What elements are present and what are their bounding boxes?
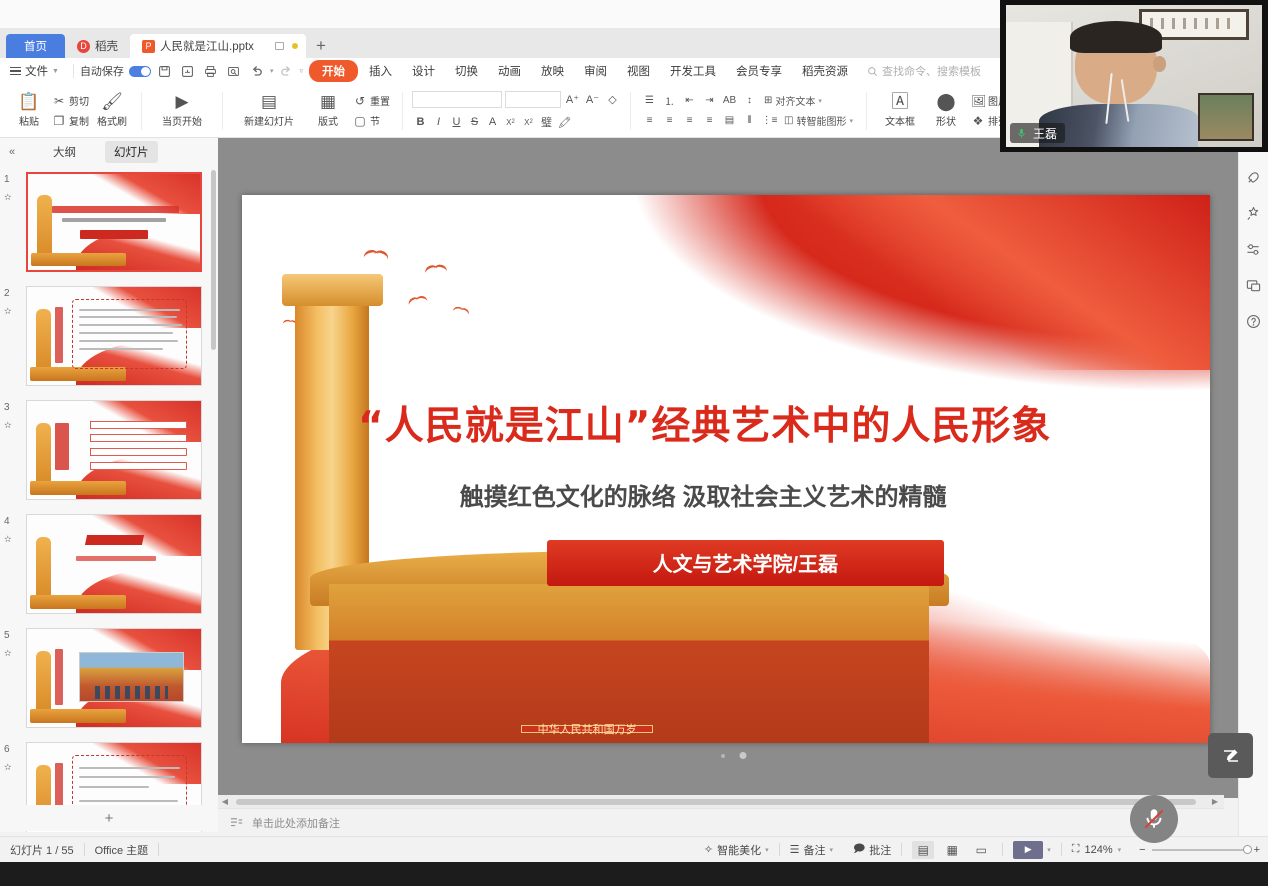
start-from-page-label: 当页开始 xyxy=(162,113,202,128)
zoom-in-button[interactable]: + xyxy=(1254,844,1260,856)
thumb-gate xyxy=(30,481,126,495)
title-bar xyxy=(0,0,1000,28)
shapes-icon: ⬤ xyxy=(936,93,955,111)
reset-icon: ↺ xyxy=(353,94,367,108)
slide-title[interactable]: “人民就是江山”经典艺术中的人民形象 xyxy=(358,395,1190,451)
search-icon xyxy=(867,66,878,77)
present-mini-icon[interactable] xyxy=(275,42,284,50)
textbox-button[interactable]: 🄰 文本框 xyxy=(876,86,924,136)
dove-icon xyxy=(363,249,388,264)
format-painter-icon: 🖌 xyxy=(101,93,123,111)
tab-home-label: 首页 xyxy=(24,38,47,54)
new-slide-icon: ▤ xyxy=(261,93,277,111)
thumb-line xyxy=(79,776,175,778)
cloud-save-icon[interactable] xyxy=(178,61,198,81)
view-switcher: ▤ ▦ ▭ xyxy=(902,841,1002,859)
thumb-gate xyxy=(31,253,126,266)
thumb-gate xyxy=(30,367,126,381)
thumb-pillar xyxy=(37,195,52,255)
list-item[interactable]: 3 ✫ xyxy=(26,400,204,508)
docer-icon: D xyxy=(77,40,90,53)
start-from-page-button[interactable]: ▶ 当页开始 xyxy=(151,86,213,136)
animation-star-icon: ✫ xyxy=(4,762,12,773)
distribute-icon[interactable]: ▤ xyxy=(720,112,739,129)
bullet-list-icon[interactable]: ☰ xyxy=(640,92,659,109)
scissors-icon: ✂ xyxy=(52,94,66,108)
webcam-overlay[interactable]: 王磊 xyxy=(1000,0,1268,152)
thumb-line xyxy=(79,309,180,311)
thumb-pillar xyxy=(36,423,51,484)
notes-icon xyxy=(230,817,244,829)
ribbon-tab-transitions[interactable]: 切换 xyxy=(446,60,487,82)
reset-button[interactable]: ↺ 重置 xyxy=(350,92,393,109)
thumb-toc-row xyxy=(90,448,187,456)
character-style-icon[interactable]: 璧 xyxy=(538,114,555,131)
start-slideshow[interactable]: ▶ ▾ xyxy=(1003,841,1061,859)
increase-font-icon[interactable]: A⁺ xyxy=(564,91,581,108)
smart-beautify-button[interactable]: ✧ 智能美化 ▾ xyxy=(694,842,779,858)
new-tab-button[interactable]: + xyxy=(306,34,336,58)
current-slide[interactable]: 中华人民共和国万岁 “人民就是江山”经典艺术中的人民形象 触摸红色文化的脉络 汲… xyxy=(242,195,1210,743)
thumb-author-bar xyxy=(80,230,149,239)
ribbon-tab-docer-resources[interactable]: 稻壳资源 xyxy=(793,60,857,82)
comments-button[interactable]: 🗩 批注 xyxy=(843,840,901,859)
section-button[interactable]: ▢ 节 xyxy=(350,112,393,129)
thumb-side-title xyxy=(55,307,63,364)
save-icon[interactable] xyxy=(155,61,175,81)
notes-pane[interactable]: 单击此处添加备注 xyxy=(218,808,1224,836)
cut-button[interactable]: ✂ 剪切 xyxy=(49,92,92,109)
paragraph-controls: ☰ ⒈ ⇤ ⇥ AB ↕ ⊞ 对齐文本 ▾ ≡ ≡ ≡ ≡ xyxy=(640,92,857,129)
font-name-input[interactable] xyxy=(412,91,502,108)
thumb-pillar xyxy=(36,651,51,712)
notes-label: 备注 xyxy=(804,842,826,858)
gate-plaque: 中华人民共和国万岁 xyxy=(521,725,653,734)
pen-annotate-button[interactable] xyxy=(1208,733,1253,778)
thumb-pillar xyxy=(36,309,51,370)
adjust-sliders-icon[interactable] xyxy=(1243,238,1265,260)
animation-star-icon: ✫ xyxy=(4,306,12,317)
thumb-line xyxy=(79,324,182,326)
slide-sorter-icon[interactable]: ▦ xyxy=(941,841,963,859)
presenter-ear xyxy=(1153,56,1166,72)
list-item[interactable]: 1 ✫ xyxy=(26,172,204,280)
zoom-slider[interactable]: − + xyxy=(1131,844,1268,856)
fit-to-window-icon[interactable]: ⛶ xyxy=(1072,843,1080,856)
command-search[interactable]: 查找命令、搜索模板 xyxy=(867,63,981,79)
subscript-icon[interactable]: X2 xyxy=(520,114,537,131)
thumb-toc-row xyxy=(90,421,187,429)
list-item[interactable]: 4 ✫ xyxy=(26,514,204,622)
magic-wand-icon[interactable] xyxy=(1243,202,1265,224)
right-tool-rail xyxy=(1238,138,1268,836)
divider xyxy=(222,92,223,130)
comments-label: 批注 xyxy=(869,842,891,858)
play-icon[interactable]: ▶ xyxy=(1013,841,1043,859)
thumb-side-title xyxy=(55,649,63,706)
paragraph-row-2: ≡ ≡ ≡ ≡ ▤ ⫴ ⋮≡ ◫ 转智能图形 ▾ xyxy=(640,112,857,129)
hamburger-icon xyxy=(10,67,21,75)
undo-icon[interactable] xyxy=(247,61,267,81)
notes-icon: ☰ xyxy=(790,843,800,856)
divider xyxy=(630,92,631,130)
zoom-out-button[interactable]: − xyxy=(1139,844,1145,856)
feedback-rocket-icon[interactable] xyxy=(1243,166,1265,188)
redo-icon[interactable] xyxy=(276,61,296,81)
slide-thumbnail-panel[interactable]: 1 ✫ 2 ✫ xyxy=(0,166,218,832)
layout-label: 版式 xyxy=(318,113,338,128)
slide-thumbnail-5[interactable] xyxy=(26,628,202,728)
slide-number: 1 xyxy=(4,174,10,185)
ribbon-tab-animations[interactable]: 动画 xyxy=(489,60,530,82)
slide-actions: ↺ 重置 ▢ 节 xyxy=(350,86,393,136)
tab-outline[interactable]: 大纲 xyxy=(44,141,85,163)
dove-icon xyxy=(425,264,448,278)
pen-annotate-icon xyxy=(1219,744,1243,768)
columns-icon[interactable]: ⫴ xyxy=(740,112,759,129)
wps-presentation-window: 首页 D 稻壳 P 人民就是江山.pptx + 文件 ▼ 自动保存 xyxy=(0,0,1268,886)
comment-icon: 🗩 xyxy=(853,840,865,859)
superscript-icon[interactable]: X2 xyxy=(502,114,519,131)
notes-toggle-button[interactable]: ☰ 备注 ▾ xyxy=(780,842,843,858)
text-direction-icon[interactable]: AB xyxy=(720,92,739,109)
autosave-toggle[interactable]: 自动保存 xyxy=(80,63,151,79)
slide-number: 6 xyxy=(4,744,10,755)
chevron-down-icon[interactable]: ▾ xyxy=(1118,846,1122,854)
to-smartart-button[interactable]: ◫ 转智能图形 ▾ xyxy=(780,112,857,129)
divider xyxy=(73,64,74,78)
animation-star-icon: ✫ xyxy=(4,648,12,659)
chevron-down-icon: ▾ xyxy=(818,97,822,105)
slide-number: 5 xyxy=(4,630,10,641)
font-group: A⁺ A⁻ ◇ B I U S A X2 X2 璧 🖍 xyxy=(407,85,626,137)
animation-star-icon: ✫ xyxy=(4,534,12,545)
desktop-edge xyxy=(0,862,1268,886)
shape-label: 形状 xyxy=(936,113,956,128)
slide-number: 3 xyxy=(4,402,10,413)
underline-button[interactable]: U xyxy=(448,114,465,131)
chevron-down-icon[interactable]: ▾ xyxy=(1047,846,1051,854)
tab-docer-label: 稻壳 xyxy=(95,38,118,54)
zoom-level[interactable]: 124% xyxy=(1084,844,1112,856)
h-scroll-thumb[interactable] xyxy=(236,799,1196,805)
thumb-toc-title xyxy=(55,423,69,470)
zoom-knob[interactable] xyxy=(1243,845,1252,854)
canvas-handle-dot-small xyxy=(721,754,725,758)
tab-file-label: 人民就是江山.pptx xyxy=(160,38,254,54)
numbered-list-icon[interactable]: ⒈ xyxy=(660,92,679,109)
thumb-subtitle-bar xyxy=(62,218,165,222)
zoom-track[interactable] xyxy=(1152,849,1248,851)
participant-name: 王磊 xyxy=(1033,125,1057,142)
textbox-icon: 🄰 xyxy=(891,93,908,111)
slide-canvas-area: 中华人民共和国万岁 “人民就是江山”经典艺术中的人民形象 触摸红色文化的脉络 汲… xyxy=(218,138,1268,798)
thumb-toc-row xyxy=(90,434,187,442)
help-icon[interactable] xyxy=(1243,310,1265,332)
thumb-line xyxy=(79,800,178,802)
quick-access-toolbar: ▾ ▿ xyxy=(155,61,303,81)
copy-button[interactable]: ❐ 复制 xyxy=(49,112,92,129)
smartart-icon: ◫ xyxy=(784,115,793,126)
add-slide-button[interactable]: + xyxy=(0,805,218,831)
webcam-video: 王磊 xyxy=(1006,5,1262,147)
dove-icon xyxy=(452,306,470,319)
text-shadow-icon[interactable]: A xyxy=(484,114,501,131)
slide-thumbnail-3[interactable] xyxy=(26,400,202,500)
divider xyxy=(141,92,142,130)
to-smartart-label: 转智能图形 xyxy=(796,113,846,128)
textbox-label: 文本框 xyxy=(885,113,915,128)
chevron-down-icon: ▼ xyxy=(52,68,59,75)
shape-button[interactable]: ⬤ 形状 xyxy=(924,86,968,136)
list-item[interactable]: 5 ✫ xyxy=(26,628,204,736)
paste-button[interactable]: 📋 粘贴 xyxy=(9,86,49,136)
align-right-icon[interactable]: ≡ xyxy=(680,112,699,129)
print-icon[interactable] xyxy=(201,61,221,81)
paste-icon: 📋 xyxy=(18,93,39,111)
slides-group: ▤ 新建幻灯片 ▦ 版式 ↺ 重置 ▢ 节 xyxy=(227,85,398,137)
font-controls: A⁺ A⁻ ◇ B I U S A X2 X2 璧 🖍 xyxy=(412,86,621,136)
slide-number: 2 xyxy=(4,288,10,299)
decrease-font-icon[interactable]: A⁻ xyxy=(584,91,601,108)
new-slide-button[interactable]: ▤ 新建幻灯片 xyxy=(232,86,306,136)
notes-placeholder: 单击此处添加备注 xyxy=(252,815,340,831)
theme-name[interactable]: Office 主题 xyxy=(85,842,159,858)
ribbon-tab-slideshow[interactable]: 放映 xyxy=(532,60,573,82)
microphone-muted-icon xyxy=(1141,806,1167,832)
picture-icon: 🖼 xyxy=(971,94,985,108)
ribbon-tab-view[interactable]: 视图 xyxy=(618,60,659,82)
layout-icon: ▦ xyxy=(320,93,336,111)
unsaved-dot-icon xyxy=(292,43,298,49)
ribbon-tab-insert[interactable]: 插入 xyxy=(360,60,401,82)
increase-indent-icon[interactable]: ⇥ xyxy=(700,92,719,109)
ribbon-tab-member[interactable]: 会员专享 xyxy=(727,60,791,82)
autosave-label: 自动保存 xyxy=(80,63,124,79)
list-level-icon[interactable]: ⋮≡ xyxy=(760,112,779,129)
normal-view-icon[interactable]: ▤ xyxy=(912,841,934,859)
thumb-photo xyxy=(79,652,183,703)
tab-docer[interactable]: D 稻壳 xyxy=(65,34,130,58)
ribbon-tab-design[interactable]: 设计 xyxy=(403,60,444,82)
slide-thumbnail-4[interactable] xyxy=(26,514,202,614)
section-icon: ▢ xyxy=(353,114,367,128)
chevron-down-icon: ▾ xyxy=(849,117,853,125)
dove-icon xyxy=(408,295,429,309)
justify-icon[interactable]: ≡ xyxy=(700,112,719,129)
bold-button[interactable]: B xyxy=(412,114,429,131)
smart-beautify-label: 智能美化 xyxy=(717,842,761,858)
format-painter-button[interactable]: 🖌 格式刷 xyxy=(92,86,132,136)
collapse-panel-button[interactable]: « xyxy=(0,146,24,158)
canvas-handle-dot xyxy=(740,752,747,759)
ribbon-tab-review[interactable]: 审阅 xyxy=(575,60,616,82)
italic-button[interactable]: I xyxy=(430,114,447,131)
slide-thumbnail-2[interactable] xyxy=(26,286,202,386)
font-size-input[interactable] xyxy=(505,91,561,108)
ribbon-tab-start[interactable]: 开始 xyxy=(309,60,358,82)
line-spacing-icon[interactable]: ↕ xyxy=(740,92,759,109)
search-placeholder: 查找命令、搜索模板 xyxy=(882,63,981,79)
thumb-pillar xyxy=(36,537,51,598)
slide-counter: 幻灯片 1 / 55 xyxy=(0,842,84,858)
slide-thumbnail-1[interactable] xyxy=(26,172,202,272)
tab-file-actions xyxy=(275,42,298,50)
toggle-switch-icon[interactable] xyxy=(129,66,151,77)
new-slide-label: 新建幻灯片 xyxy=(244,113,294,128)
align-left-icon[interactable]: ≡ xyxy=(640,112,659,129)
panel-scrollbar[interactable] xyxy=(211,170,216,350)
thumb-gate xyxy=(30,709,126,723)
thumb-line xyxy=(79,786,149,788)
magic-wand-icon: ✧ xyxy=(704,843,713,856)
thumb-line xyxy=(79,767,180,769)
clear-format-icon[interactable]: ◇ xyxy=(604,91,621,108)
play-circle-icon: ▶ xyxy=(175,93,188,111)
thumb-line xyxy=(79,332,173,334)
paste-label: 粘贴 xyxy=(19,113,39,128)
align-text-label: 对齐文本 xyxy=(775,93,815,108)
highlight-icon[interactable]: 🖍 xyxy=(556,114,573,131)
font-row: A⁺ A⁻ ◇ xyxy=(412,91,621,108)
reset-label: 重置 xyxy=(370,93,390,108)
tab-presentation-file[interactable]: P 人民就是江山.pptx xyxy=(130,34,306,58)
status-bar: 幻灯片 1 / 55 Office 主题 ✧ 智能美化 ▾ ☰ 备注 ▾ 🗩 批… xyxy=(0,836,1268,862)
zoom-controls: ⛶ 124% ▾ xyxy=(1062,843,1131,856)
thumb-toc-row xyxy=(90,462,187,470)
thumb-line xyxy=(79,340,178,342)
microphone-toggle-button[interactable] xyxy=(1130,795,1178,843)
pptx-icon: P xyxy=(142,40,155,53)
animation-star-icon: ✫ xyxy=(4,420,12,431)
section-label: 节 xyxy=(370,113,380,128)
slide-number: 4 xyxy=(4,516,10,527)
copy-label: 复制 xyxy=(69,113,89,128)
slideshow-group: ▶ 当页开始 xyxy=(146,85,218,137)
participant-name-badge: 王磊 xyxy=(1010,123,1065,143)
tab-home[interactable]: 首页 xyxy=(6,34,65,58)
strikethrough-button[interactable]: S xyxy=(466,114,483,131)
cut-label: 剪切 xyxy=(69,93,89,108)
thumb-chapter-banner xyxy=(85,535,145,545)
list-item[interactable]: 2 ✫ xyxy=(26,286,204,394)
copy-icon: ❐ xyxy=(52,114,66,128)
align-text-icon: ⊞ xyxy=(764,95,772,106)
ribbon-tab-developer[interactable]: 开发工具 xyxy=(661,60,725,82)
scroll-right-icon[interactable]: ▶ xyxy=(1208,797,1222,806)
customize-icon[interactable]: ▿ xyxy=(299,67,303,75)
tiananmen-gate-decoration: 中华人民共和国万岁 xyxy=(329,584,929,743)
format-row: B I U S A X2 X2 璧 🖍 xyxy=(412,114,621,131)
canvas-horizontal-scrollbar[interactable]: ◀ ▶ xyxy=(218,795,1224,808)
thumb-line xyxy=(79,348,163,350)
file-menu-label: 文件 xyxy=(25,63,48,79)
thumb-chapter-title xyxy=(76,556,156,561)
paragraph-group: ☰ ⒈ ⇤ ⇥ AB ↕ ⊞ 对齐文本 ▾ ≡ ≡ ≡ ≡ xyxy=(635,85,862,137)
screen-share-icon[interactable] xyxy=(1243,274,1265,296)
reading-view-icon[interactable]: ▭ xyxy=(970,841,992,859)
tab-slides[interactable]: 幻灯片 xyxy=(105,141,158,163)
paragraph-row-1: ☰ ⒈ ⇤ ⇥ AB ↕ ⊞ 对齐文本 ▾ xyxy=(640,92,857,109)
layout-button[interactable]: ▦ 版式 xyxy=(306,86,350,136)
ribbon-tabs: 开始 插入 设计 切换 动画 放映 审阅 视图 开发工具 会员专享 稻壳资源 xyxy=(309,60,857,82)
mic-on-icon xyxy=(1015,127,1028,140)
clipboard-group: 📋 粘贴 ✂ 剪切 ❐ 复制 🖌 格式刷 xyxy=(4,85,137,137)
align-center-icon[interactable]: ≡ xyxy=(660,112,679,129)
clipboard-actions: ✂ 剪切 ❐ 复制 xyxy=(49,86,92,136)
thumb-title-bar xyxy=(52,206,179,213)
slide-subtitle[interactable]: 触摸红色文化的脉络 汲取社会主义艺术的精髓 xyxy=(460,477,1196,512)
presenter-hair xyxy=(1070,21,1162,54)
divider xyxy=(866,92,867,130)
arrange-icon: ❖ xyxy=(971,114,985,128)
slide-panel-header: « 大纲 幻灯片 xyxy=(0,138,218,166)
divider xyxy=(402,92,403,130)
wall-picture xyxy=(1198,93,1254,141)
file-menu-button[interactable]: 文件 ▼ xyxy=(0,63,67,79)
print-preview-icon[interactable] xyxy=(224,61,244,81)
divider xyxy=(158,843,159,856)
thumb-gate xyxy=(30,595,126,609)
undo-dropdown-icon[interactable]: ▾ xyxy=(270,67,274,75)
animation-star-icon: ✫ xyxy=(4,192,12,203)
chevron-down-icon: ▾ xyxy=(765,846,769,854)
slide-author-banner[interactable]: 人文与艺术学院/王磊 xyxy=(547,540,944,585)
align-text-button[interactable]: ⊞ 对齐文本 ▾ xyxy=(760,92,826,109)
chevron-down-icon: ▾ xyxy=(830,846,834,854)
decrease-indent-icon[interactable]: ⇤ xyxy=(680,92,699,109)
format-painter-label: 格式刷 xyxy=(97,113,127,128)
scroll-left-icon[interactable]: ◀ xyxy=(218,797,232,806)
slide-red-topright-ribbon xyxy=(745,195,1210,370)
